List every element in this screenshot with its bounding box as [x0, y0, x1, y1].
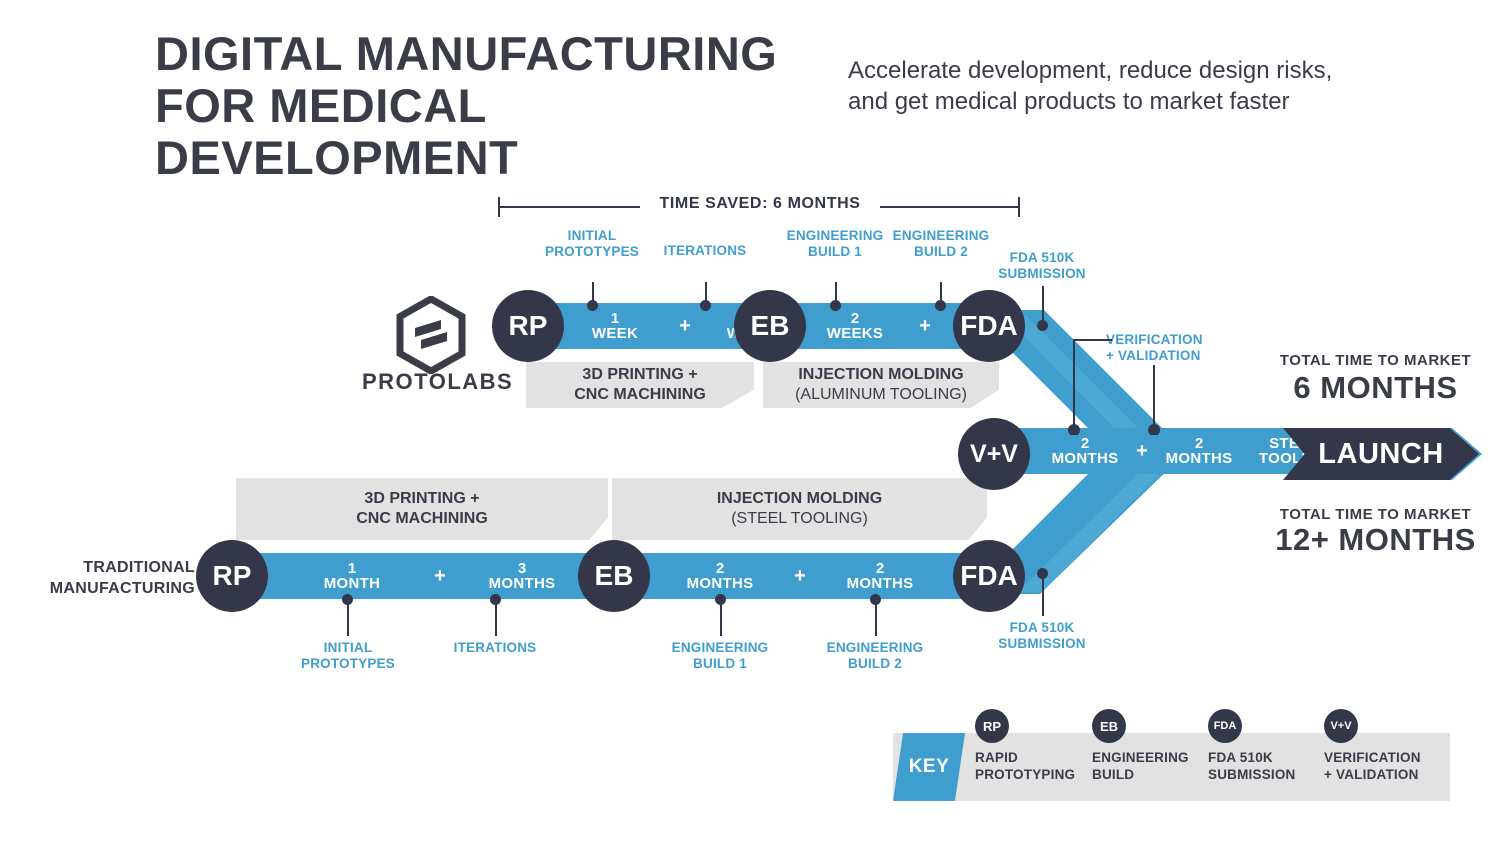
leader-line-initial-prototypes-bottom — [347, 600, 349, 636]
caption-engineering-build-2-bottom: ENGINEERING BUILD 2 — [810, 640, 940, 672]
caption-line-1: ENGINEERING — [876, 228, 1006, 244]
vv-callout-leaders — [1060, 330, 1220, 435]
key-badge-rp: RP — [975, 709, 1009, 743]
leader-dot-engineering-build-1-bottom — [715, 594, 726, 605]
title-line-1: DIGITAL MANUFACTURING — [155, 28, 855, 80]
process-line-2: (STEEL TOOLING) — [731, 509, 868, 529]
caption-line-1: INITIAL — [522, 228, 662, 244]
caption-initial-prototypes-bottom: INITIAL PROTOTYPES — [278, 640, 418, 672]
segment-number: 2 — [1195, 436, 1203, 451]
caption-line-2: BUILD 1 — [655, 656, 785, 672]
traditional-node-fda: FDA — [953, 540, 1025, 612]
digital-process-box-3d-printing: 3D PRINTING + CNC MACHINING — [526, 362, 754, 408]
leader-dot-initial-prototypes — [587, 300, 598, 311]
key-badge-vv: V+V — [1324, 709, 1358, 743]
segment-number: 2 — [1081, 436, 1089, 451]
process-line-2: CNC MACHINING — [574, 385, 706, 405]
traditional-total-label: TOTAL TIME TO MARKET — [1268, 506, 1483, 523]
caption-iterations: ITERATIONS — [645, 243, 765, 259]
leader-line-engineering-build-1-bottom — [720, 600, 722, 636]
segment-number: 3 — [518, 561, 526, 576]
process-line-1: INJECTION MOLDING — [717, 489, 882, 509]
leader-line-engineering-build-2-bottom — [875, 600, 877, 636]
process-line-2: CNC MACHINING — [356, 509, 488, 529]
title-line-2: FOR MEDICAL DEVELOPMENT — [155, 80, 855, 184]
segment-unit: MONTHS — [1052, 451, 1119, 466]
caption-fda-submission-bottom: FDA 510K SUBMISSION — [977, 620, 1107, 652]
key-tab: KEY — [893, 733, 965, 801]
key-line-2: BUILD — [1092, 766, 1207, 783]
caption-line-1: FDA 510K — [977, 250, 1107, 266]
key-line-2: PROTOTYPING — [975, 766, 1085, 783]
traditional-process-box-injection-molding: INJECTION MOLDING (STEEL TOOLING) — [612, 478, 987, 540]
leader-dot-engineering-build-1 — [830, 300, 841, 311]
traditional-process-box-3d-printing: 3D PRINTING + CNC MACHINING — [236, 478, 608, 540]
caption-line-1: ITERATIONS — [645, 243, 765, 259]
segment-unit: MONTHS — [687, 576, 754, 591]
segment-unit: MONTHS — [489, 576, 556, 591]
segment-number: 2 — [876, 561, 884, 576]
segment-number: 1 — [348, 561, 356, 576]
segment-unit: MONTHS — [1166, 451, 1233, 466]
digital-plus-0: + — [670, 303, 700, 349]
caption-line-1: ENGINEERING — [810, 640, 940, 656]
launch-badge: LAUNCH — [1283, 428, 1479, 480]
process-line-1: 3D PRINTING + — [582, 365, 697, 385]
traditional-plus-1: + — [780, 553, 820, 599]
traditional-total-value: 12+ MONTHS — [1258, 522, 1493, 558]
caption-line-2: BUILD 2 — [810, 656, 940, 672]
caption-line-1: ENGINEERING — [655, 640, 785, 656]
caption-line-1: ITERATIONS — [435, 640, 555, 656]
traditional-manufacturing-label: TRADITIONAL MANUFACTURING — [15, 557, 195, 599]
label-line-1: TRADITIONAL — [15, 557, 195, 578]
segment-number: 1 — [611, 311, 619, 326]
traditional-node-rp: RP — [196, 540, 268, 612]
time-saved-bracket-right-cap — [1018, 197, 1020, 217]
digital-total-label: TOTAL TIME TO MARKET — [1268, 352, 1483, 369]
segment-number: 2 — [716, 561, 724, 576]
caption-line-2: PROTOTYPES — [278, 656, 418, 672]
leader-dot-engineering-build-2 — [935, 300, 946, 311]
key-line-2: SUBMISSION — [1208, 766, 1320, 783]
caption-fda-submission-top: FDA 510K SUBMISSION — [977, 250, 1107, 282]
segment-unit: WEEK — [592, 326, 638, 341]
digital-process-box-injection-molding: INJECTION MOLDING (ALUMINUM TOOLING) — [763, 362, 999, 408]
subtitle-line-2: and get medical products to market faste… — [848, 86, 1448, 117]
process-line-1: 3D PRINTING + — [364, 489, 479, 509]
time-saved-bracket-left-cap — [498, 197, 500, 217]
protolabs-wordmark: PROTOLABS — [362, 369, 513, 395]
segment-unit: MONTHS — [847, 576, 914, 591]
label-line-2: MANUFACTURING — [15, 578, 195, 599]
key-title: KEY — [893, 733, 965, 801]
segment-number: 2 — [851, 311, 859, 326]
key-text-rp: RAPID PROTOTYPING — [975, 749, 1085, 783]
traditional-plus-0: + — [420, 553, 460, 599]
protolabs-hexagon-logo — [394, 296, 468, 379]
digital-total-value: 6 MONTHS — [1268, 370, 1483, 406]
key-line-1: RAPID — [975, 749, 1085, 766]
key-badge-eb: EB — [1092, 709, 1126, 743]
key-text-eb: ENGINEERING BUILD — [1092, 749, 1207, 783]
traditional-segment-0: 1 MONTH — [292, 553, 412, 599]
caption-iterations-bottom: ITERATIONS — [435, 640, 555, 656]
merge-node-vv: V+V — [958, 418, 1030, 490]
traditional-segment-1: 3 MONTHS — [462, 553, 582, 599]
caption-line-1: INITIAL — [278, 640, 418, 656]
process-line-1: INJECTION MOLDING — [798, 365, 963, 385]
key-text-vv: VERIFICATION + VALIDATION — [1324, 749, 1444, 783]
traditional-segment-3: 2 MONTHS — [820, 553, 940, 599]
key-line-2: + VALIDATION — [1324, 766, 1444, 783]
key-text-fda: FDA 510K SUBMISSION — [1208, 749, 1320, 783]
segment-unit: WEEKS — [827, 326, 884, 341]
caption-initial-prototypes: INITIAL PROTOTYPES — [522, 228, 662, 260]
key-line-1: FDA 510K — [1208, 749, 1320, 766]
caption-line-1: FDA 510K — [977, 620, 1107, 636]
leader-dot-iterations — [700, 300, 711, 311]
caption-line-2: PROTOTYPES — [522, 244, 662, 260]
caption-line-2: SUBMISSION — [977, 636, 1107, 652]
caption-line-2: SUBMISSION — [977, 266, 1107, 282]
leader-dot-fda-top — [1037, 320, 1048, 331]
segment-unit: MONTH — [324, 576, 381, 591]
key-line-1: ENGINEERING — [1092, 749, 1207, 766]
process-line-2: (ALUMINUM TOOLING) — [795, 385, 967, 405]
leader-line-iterations-bottom — [495, 600, 497, 636]
page-title: DIGITAL MANUFACTURING FOR MEDICAL DEVELO… — [155, 28, 855, 184]
key-badge-fda: FDA — [1208, 709, 1242, 743]
leader-dot-fda-bottom — [1037, 568, 1048, 579]
traditional-node-eb: EB — [578, 540, 650, 612]
leader-line-fda-bottom — [1042, 574, 1044, 616]
digital-plus-1: + — [910, 303, 940, 349]
leader-dot-iterations-bottom — [490, 594, 501, 605]
digital-segment-0: 1 WEEK — [560, 303, 670, 349]
subtitle-line-1: Accelerate development, reduce design ri… — [848, 55, 1448, 86]
key-line-1: VERIFICATION — [1324, 749, 1444, 766]
digital-node-rp: RP — [492, 290, 564, 362]
time-saved-label: TIME SAVED: 6 MONTHS — [640, 195, 880, 213]
caption-engineering-build-1-bottom: ENGINEERING BUILD 1 — [655, 640, 785, 672]
digital-node-eb: EB — [734, 290, 806, 362]
digital-segment-2: 2 WEEKS — [800, 303, 910, 349]
leader-dot-engineering-build-2-bottom — [870, 594, 881, 605]
traditional-segment-2: 2 MONTHS — [660, 553, 780, 599]
digital-node-fda: FDA — [953, 290, 1025, 362]
page-subtitle: Accelerate development, reduce design ri… — [848, 55, 1448, 117]
leader-dot-initial-prototypes-bottom — [342, 594, 353, 605]
